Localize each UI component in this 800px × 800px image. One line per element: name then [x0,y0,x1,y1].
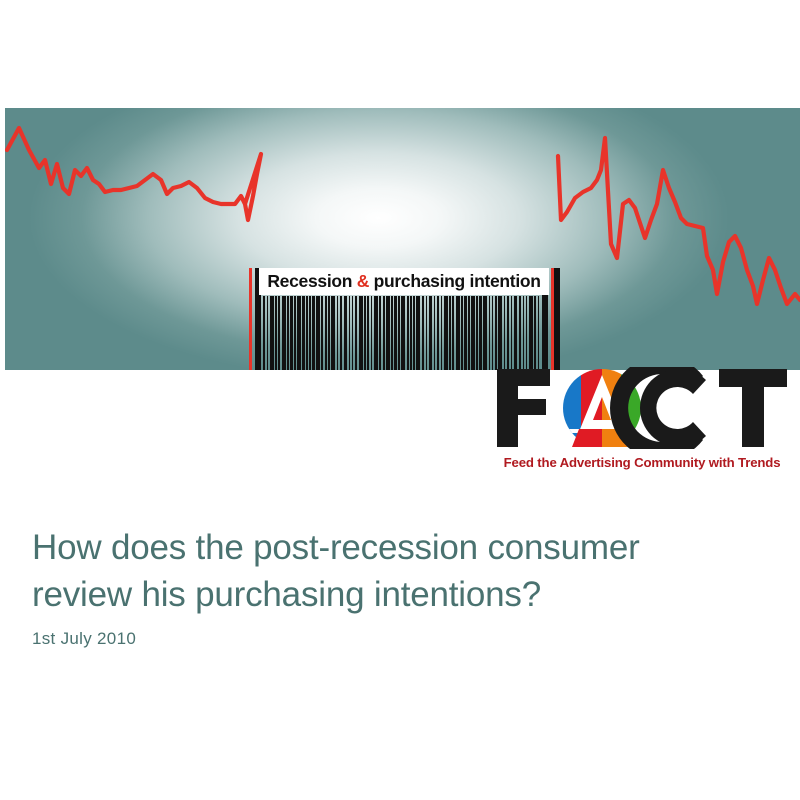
barcode-bar [355,296,357,370]
barcode-bar [519,296,521,370]
trend-line-left [7,128,261,220]
barcode-bar [434,296,436,370]
barcode-bar [441,296,443,370]
barcode-bar [534,296,536,370]
barcode-bar [538,296,540,370]
barcode-bar [263,296,265,370]
barcode-bar [309,296,311,370]
barcode-bar [379,296,381,370]
barcode-bar [529,296,533,370]
barcode-bar [479,296,481,370]
page-date: 1st July 2010 [32,629,136,649]
barcode-bar [367,296,369,370]
barcode-bar [325,296,327,370]
barcode-bar [278,296,280,370]
barcode-bar [468,296,470,370]
barcode-title-ampersand: & [357,271,369,291]
logo-letter-c [610,367,706,449]
barcode-bar [267,296,269,370]
barcode-graphic: Recession & purchasing intention [245,268,563,370]
barcode-bar [321,296,323,370]
barcode-bar [526,296,528,370]
barcode-bar [294,296,296,370]
logo-letter-f [497,369,550,447]
barcode-bar [444,296,448,370]
barcode-bar [374,296,378,370]
barcode-title-suffix: purchasing intention [369,271,541,291]
fact-logo-tagline: Feed the Advertising Community with Tren… [493,455,791,470]
barcode-bar [270,296,274,370]
barcode-bar [413,296,415,370]
barcode-bar [312,296,314,370]
barcode-bars [263,296,541,370]
barcode-bar [297,296,301,370]
trend-line-right [558,138,800,304]
barcode-bar [383,296,385,370]
barcode-bar [364,296,366,370]
barcode-red-guard-left [249,268,252,370]
barcode-bar [349,296,351,370]
barcode-bar [337,296,339,370]
barcode-bar [391,296,393,370]
barcode-bar [514,296,518,370]
barcode-bar [302,296,304,370]
barcode-bar [511,296,513,370]
barcode-bar [429,296,433,370]
fact-logo: Feed the Advertising Community with Tren… [493,367,791,477]
barcode-bar [523,296,525,370]
barcode-bar [331,296,335,370]
barcode-bar [426,296,428,370]
barcode-bar [410,296,412,370]
page-title-line-1: How does the post-recession consumer [32,528,640,567]
barcode-bar [498,296,502,370]
barcode-bar [456,296,460,370]
barcode-bar [371,296,373,370]
barcode-black-guard-right-outer [554,268,560,370]
barcode-bar [386,296,390,370]
barcode-bar [449,296,451,370]
barcode-bar [394,296,396,370]
barcode-bar [407,296,409,370]
barcode-bar [489,296,491,370]
barcode-bar [290,296,292,370]
logo-letter-t [719,369,787,447]
page-title: How does the post-recession consumer rev… [32,524,772,618]
barcode-title-prefix: Recession [267,271,356,291]
barcode-bar [328,296,330,370]
barcode-bar [471,296,475,370]
fact-logo-letters [493,367,791,449]
barcode-title-label: Recession & purchasing intention [259,268,549,295]
barcode-bar [287,296,289,370]
barcode-bar [306,296,308,370]
barcode-bar [344,296,348,370]
barcode-bar [416,296,420,370]
barcode-bar [275,296,277,370]
barcode-bar [504,296,506,370]
barcode-bar [340,296,342,370]
slide-root: Recession & purchasing intention [0,0,800,800]
barcode-bar [422,296,424,370]
hero-banner-image: Recession & purchasing intention [5,108,800,370]
barcode-bar [452,296,454,370]
barcode-bar [398,296,400,370]
barcode-bar [401,296,405,370]
barcode-bar [464,296,466,370]
barcode-bar [461,296,463,370]
barcode-bar [359,296,363,370]
barcode-bar [492,296,494,370]
barcode-bar [352,296,354,370]
barcode-bar [282,296,286,370]
page-title-line-2: review his purchasing intentions? [32,575,541,614]
barcode-bar [483,296,487,370]
barcode-bar [495,296,497,370]
barcode-bar [476,296,478,370]
barcode-bar [316,296,320,370]
barcode-bar [507,296,509,370]
barcode-bar [437,296,439,370]
